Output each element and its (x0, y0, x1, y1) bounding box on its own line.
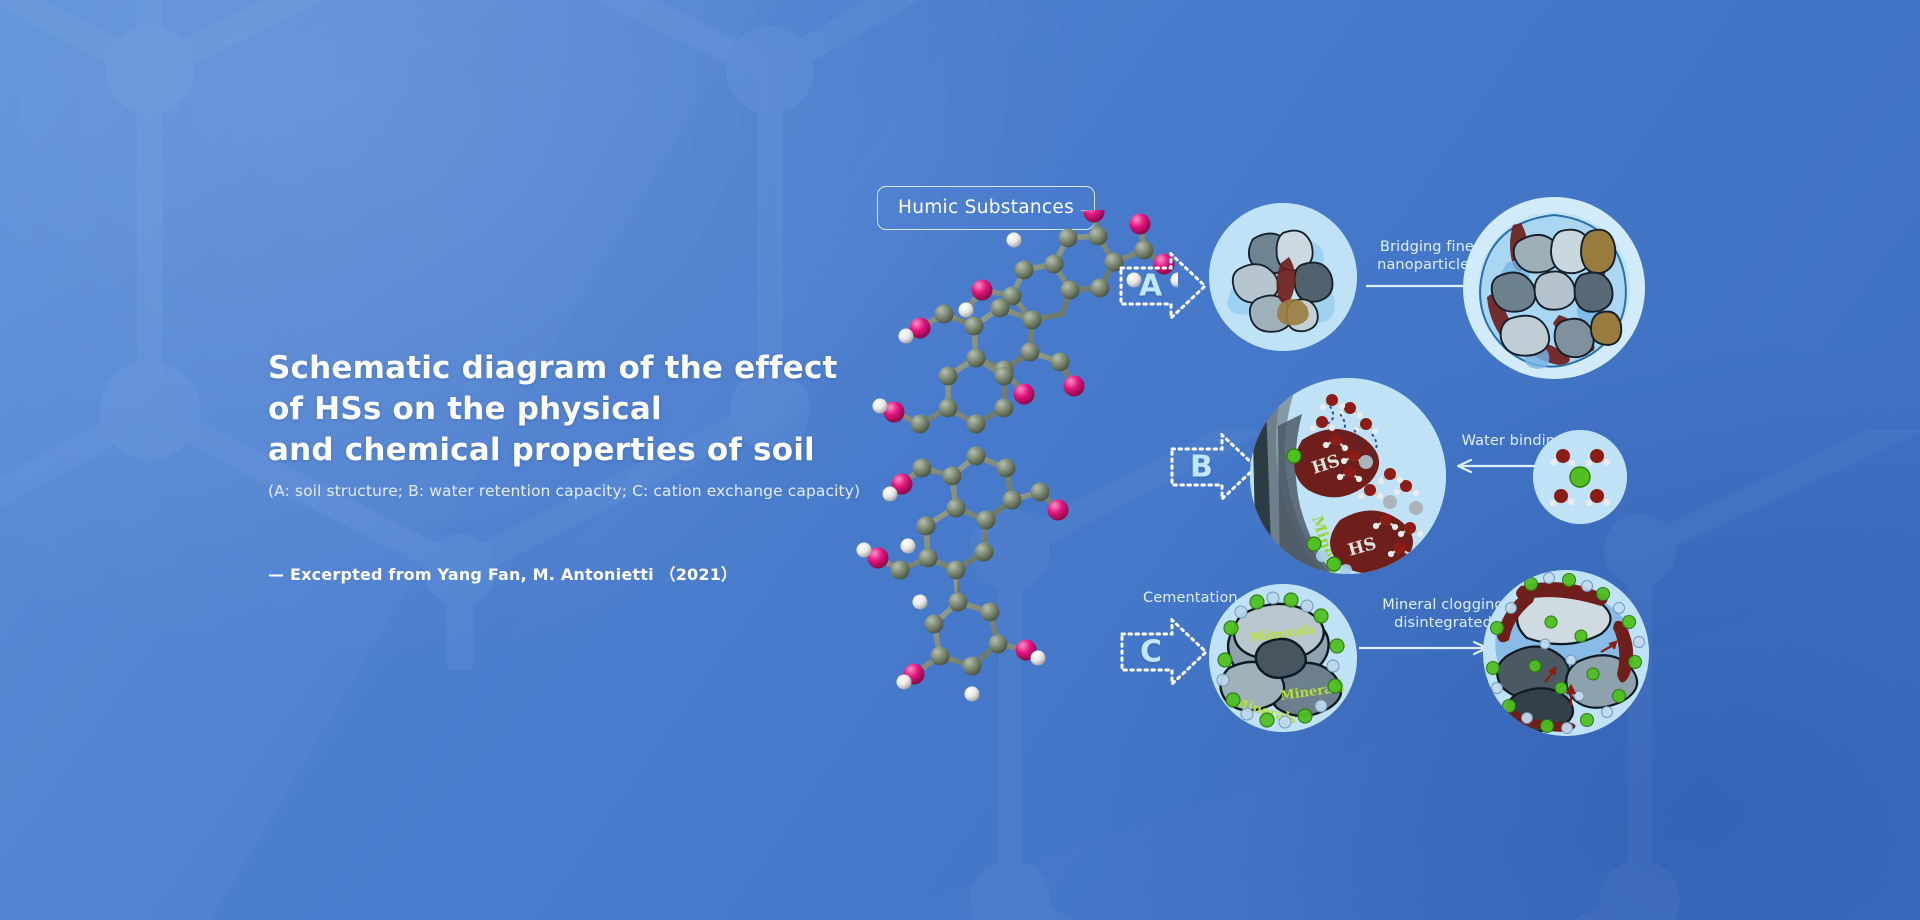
step-arrow-a: A (1119, 252, 1207, 320)
circle-a-after (1463, 197, 1645, 379)
step-letter-c: C (1140, 635, 1162, 670)
poster-canvas: Schematic diagram of the effect of HSs o… (0, 0, 1920, 920)
circle-b-before: Minerals HS HS (1250, 378, 1446, 574)
page-subtitle: (A: soil structure; B: water retention c… (268, 480, 908, 502)
circle-a-before (1209, 203, 1357, 351)
source-attribution: — Excerpted from Yang Fan, M. Antonietti… (268, 564, 908, 586)
title-line-2: of HSs on the physical (268, 389, 908, 430)
title-line-1: Schematic diagram of the effect (268, 348, 908, 389)
flow-arrow-c (1359, 640, 1495, 656)
step-arrow-b: B (1170, 433, 1258, 501)
circle-c-after (1483, 570, 1649, 736)
step-letter-a: A (1139, 269, 1162, 304)
cementation-label: Cementation (1143, 589, 1238, 607)
step-letter-b: B (1190, 450, 1213, 485)
circle-c-before: Minerals Minerals Minerals (1209, 584, 1357, 732)
circle-b-after (1533, 430, 1627, 524)
title-line-3: and chemical properties of soil (268, 430, 908, 471)
headline-block: Schematic diagram of the effect of HSs o… (268, 348, 908, 586)
step-arrow-c: C (1120, 618, 1208, 686)
page-title: Schematic diagram of the effect of HSs o… (268, 348, 908, 471)
